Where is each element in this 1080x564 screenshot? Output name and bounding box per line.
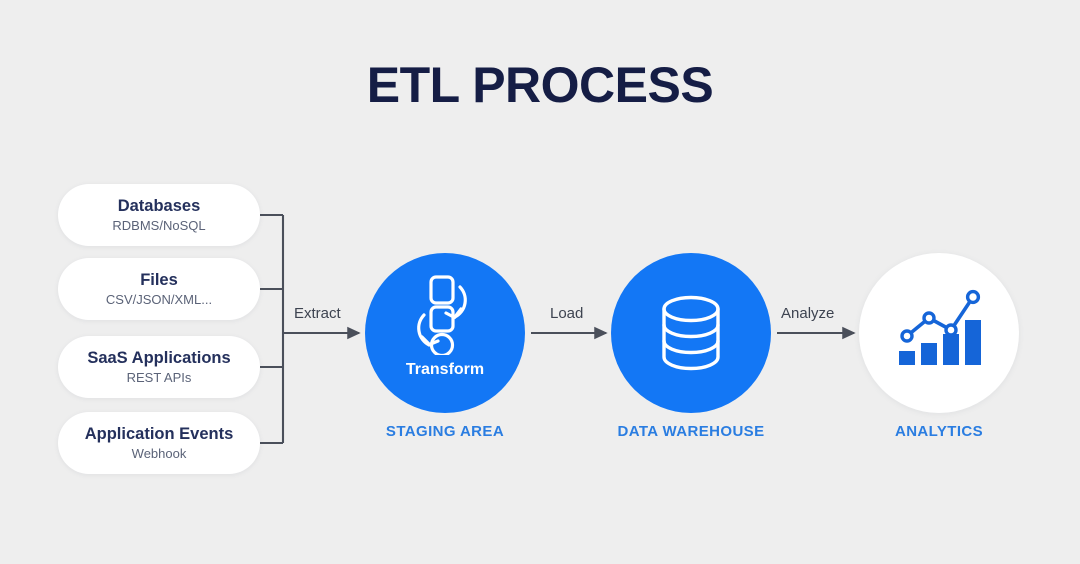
stage-node-staging-area[interactable]: Transform — [365, 253, 525, 413]
source-item-application-events[interactable]: Application Events Webhook — [58, 412, 260, 474]
source-title: Databases — [118, 196, 201, 217]
database-cylinder-icon — [655, 293, 727, 373]
source-title: SaaS Applications — [87, 348, 230, 369]
source-subtitle: CSV/JSON/XML... — [106, 291, 212, 309]
page-title: ETL PROCESS — [0, 60, 1080, 110]
arrow-label-extract: Extract — [294, 305, 341, 322]
stage-inner-label-transform: Transform — [365, 361, 525, 379]
source-title: Files — [140, 270, 178, 291]
arrow-label-analyze: Analyze — [781, 305, 834, 322]
stage-caption-analytics: ANALYTICS — [789, 423, 1080, 440]
arrow-label-load: Load — [550, 305, 583, 322]
source-title: Application Events — [85, 424, 234, 445]
source-subtitle: RDBMS/NoSQL — [112, 217, 205, 235]
stage-node-data-warehouse[interactable] — [611, 253, 771, 413]
stage-node-analytics[interactable] — [859, 253, 1019, 413]
source-item-files[interactable]: Files CSV/JSON/XML... — [58, 258, 260, 320]
bar-line-chart-icon — [889, 285, 989, 375]
source-item-databases[interactable]: Databases RDBMS/NoSQL — [58, 184, 260, 246]
source-item-saas-applications[interactable]: SaaS Applications REST APIs — [58, 336, 260, 398]
source-subtitle: Webhook — [132, 445, 187, 463]
source-subtitle: REST APIs — [127, 369, 192, 387]
etl-process-diagram: ETL PROCESS Databases RDBMS/NoSQL Files … — [0, 0, 1080, 564]
transform-icon — [403, 271, 487, 355]
